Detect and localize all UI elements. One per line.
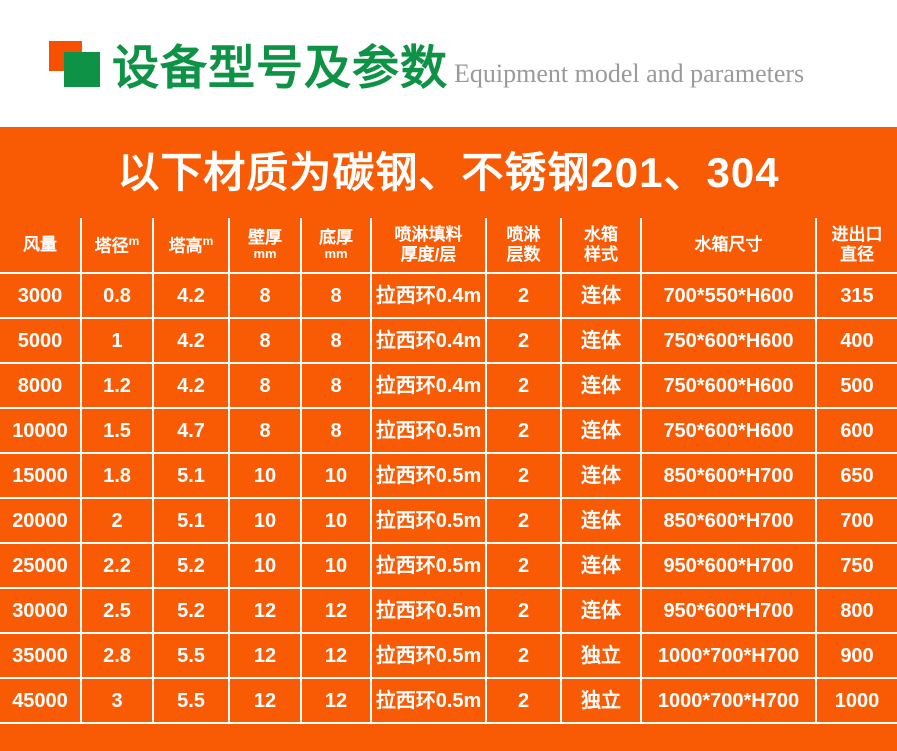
cell-bottom-thickness: 10 xyxy=(301,498,371,543)
cell-tower-diameter: 1.5 xyxy=(81,408,153,453)
cell-bottom-thickness: 8 xyxy=(301,363,371,408)
cell-tower-diameter: 2.8 xyxy=(81,633,153,678)
material-banner-text: 以下材质为碳钢、不锈钢201、304 xyxy=(117,152,779,194)
cell-tower-height: 4.7 xyxy=(153,408,229,453)
cell-spray-packing-thickness: 拉西环0.4m xyxy=(371,318,486,363)
specification-table: 风量 塔径m 塔高m 壁厚 mm 底厚 mm xyxy=(0,218,897,724)
header-line-1: 进出口 xyxy=(817,225,897,245)
cell-water-tank-size: 750*600*H600 xyxy=(641,318,816,363)
column-header-bottom-thickness: 底厚 mm xyxy=(301,218,371,273)
header-line-2: 层数 xyxy=(487,245,560,265)
cell-inlet-outlet-diameter: 800 xyxy=(816,588,897,633)
logo-squares-icon xyxy=(49,41,104,87)
cell-tower-diameter: 0.8 xyxy=(81,273,153,318)
header-unit: m xyxy=(203,234,214,248)
cell-water-tank-style: 连体 xyxy=(561,543,641,588)
cell-water-tank-size: 1000*700*H700 xyxy=(641,678,816,723)
table-header: 风量 塔径m 塔高m 壁厚 mm 底厚 mm xyxy=(0,218,897,273)
table-row: 500014.288拉西环0.4m2连体750*600*H600400 xyxy=(0,318,897,363)
table-row: 350002.85.51212拉西环0.5m2独立1000*700*H70090… xyxy=(0,633,897,678)
cell-water-tank-style: 连体 xyxy=(561,318,641,363)
cell-bottom-thickness: 12 xyxy=(301,678,371,723)
cell-tower-height: 5.1 xyxy=(153,453,229,498)
cell-tower-diameter: 2 xyxy=(81,498,153,543)
cell-spray-packing-thickness: 拉西环0.5m xyxy=(371,543,486,588)
column-header-air-volume: 风量 xyxy=(0,218,81,273)
cell-water-tank-size: 850*600*H700 xyxy=(641,498,816,543)
cell-air-volume: 8000 xyxy=(0,363,81,408)
cell-tower-height: 4.2 xyxy=(153,318,229,363)
orange-content-panel: 以下材质为碳钢、不锈钢201、304 风量 塔径m 塔高m xyxy=(0,127,897,751)
cell-bottom-thickness: 8 xyxy=(301,408,371,453)
cell-wall-thickness: 8 xyxy=(229,363,301,408)
table-row: 4500035.51212拉西环0.5m2独立1000*700*H7001000 xyxy=(0,678,897,723)
cell-inlet-outlet-diameter: 1000 xyxy=(816,678,897,723)
cell-tower-diameter: 2.5 xyxy=(81,588,153,633)
header-line-2: 直径 xyxy=(817,245,897,265)
header-line-1: 风量 xyxy=(0,235,80,255)
cell-bottom-thickness: 10 xyxy=(301,453,371,498)
header-unit: m xyxy=(129,234,140,248)
cell-bottom-thickness: 10 xyxy=(301,543,371,588)
column-header-spray-layers: 喷淋 层数 xyxy=(486,218,561,273)
cell-air-volume: 35000 xyxy=(0,633,81,678)
column-header-inlet-outlet-diameter: 进出口 直径 xyxy=(816,218,897,273)
cell-air-volume: 25000 xyxy=(0,543,81,588)
cell-bottom-thickness: 8 xyxy=(301,273,371,318)
cell-tower-diameter: 1.8 xyxy=(81,453,153,498)
cell-water-tank-size: 750*600*H600 xyxy=(641,408,816,453)
cell-wall-thickness: 8 xyxy=(229,408,301,453)
cell-wall-thickness: 8 xyxy=(229,318,301,363)
header-line-2: 样式 xyxy=(562,245,640,265)
cell-spray-packing-thickness: 拉西环0.5m xyxy=(371,588,486,633)
cell-water-tank-style: 连体 xyxy=(561,453,641,498)
cell-tower-height: 4.2 xyxy=(153,363,229,408)
cell-tower-diameter: 1 xyxy=(81,318,153,363)
cell-tower-height: 5.1 xyxy=(153,498,229,543)
header-unit: mm xyxy=(230,247,300,262)
cell-bottom-thickness: 12 xyxy=(301,588,371,633)
cell-air-volume: 20000 xyxy=(0,498,81,543)
page-header: 设备型号及参数 Equipment model and parameters xyxy=(0,0,897,127)
table-row: 2000025.11010拉西环0.5m2连体850*600*H700700 xyxy=(0,498,897,543)
header-line-1: 水箱尺寸 xyxy=(642,235,815,255)
cell-water-tank-size: 850*600*H700 xyxy=(641,453,816,498)
header-line-1: 水箱 xyxy=(562,225,640,245)
cell-water-tank-size: 1000*700*H700 xyxy=(641,633,816,678)
table-row: 250002.25.21010拉西环0.5m2连体950*600*H700750 xyxy=(0,543,897,588)
cell-water-tank-style: 连体 xyxy=(561,408,641,453)
table-row: 30000.84.288拉西环0.4m2连体700*550*H600315 xyxy=(0,273,897,318)
cell-air-volume: 30000 xyxy=(0,588,81,633)
cell-wall-thickness: 10 xyxy=(229,453,301,498)
logo-green-square-icon xyxy=(64,52,100,87)
cell-spray-packing-thickness: 拉西环0.5m xyxy=(371,633,486,678)
cell-spray-layers: 2 xyxy=(486,588,561,633)
header-line-1: 塔高 xyxy=(169,236,203,255)
cell-spray-layers: 2 xyxy=(486,543,561,588)
table-body: 30000.84.288拉西环0.4m2连体700*550*H600315500… xyxy=(0,273,897,723)
cell-tower-height: 5.5 xyxy=(153,633,229,678)
cell-wall-thickness: 12 xyxy=(229,633,301,678)
column-header-tower-diameter: 塔径m xyxy=(81,218,153,273)
cell-tower-diameter: 2.2 xyxy=(81,543,153,588)
cell-water-tank-style: 连体 xyxy=(561,498,641,543)
cell-spray-layers: 2 xyxy=(486,633,561,678)
header-line-1: 喷淋填料 xyxy=(372,225,485,245)
cell-air-volume: 10000 xyxy=(0,408,81,453)
cell-spray-packing-thickness: 拉西环0.5m xyxy=(371,453,486,498)
table-header-row: 风量 塔径m 塔高m 壁厚 mm 底厚 mm xyxy=(0,218,897,273)
header-inner: 设备型号及参数 Equipment model and parameters xyxy=(49,41,804,93)
table-row: 80001.24.288拉西环0.4m2连体750*600*H600500 xyxy=(0,363,897,408)
cell-air-volume: 45000 xyxy=(0,678,81,723)
cell-bottom-thickness: 8 xyxy=(301,318,371,363)
cell-water-tank-size: 950*600*H700 xyxy=(641,543,816,588)
page-subtitle: Equipment model and parameters xyxy=(454,61,804,87)
cell-air-volume: 3000 xyxy=(0,273,81,318)
table-row: 100001.54.788拉西环0.5m2连体750*600*H600600 xyxy=(0,408,897,453)
column-header-spray-packing-thickness: 喷淋填料 厚度/层 xyxy=(371,218,486,273)
column-header-tower-height: 塔高m xyxy=(153,218,229,273)
cell-water-tank-style: 连体 xyxy=(561,363,641,408)
column-header-water-tank-size: 水箱尺寸 xyxy=(641,218,816,273)
cell-spray-packing-thickness: 拉西环0.5m xyxy=(371,408,486,453)
column-header-wall-thickness: 壁厚 mm xyxy=(229,218,301,273)
cell-inlet-outlet-diameter: 750 xyxy=(816,543,897,588)
cell-inlet-outlet-diameter: 900 xyxy=(816,633,897,678)
header-line-1: 壁厚 xyxy=(230,228,300,248)
header-line-1: 底厚 xyxy=(302,228,370,248)
cell-spray-layers: 2 xyxy=(486,678,561,723)
cell-water-tank-size: 750*600*H600 xyxy=(641,363,816,408)
cell-inlet-outlet-diameter: 600 xyxy=(816,408,897,453)
cell-spray-layers: 2 xyxy=(486,318,561,363)
cell-tower-height: 4.2 xyxy=(153,273,229,318)
cell-spray-layers: 2 xyxy=(486,408,561,453)
cell-inlet-outlet-diameter: 500 xyxy=(816,363,897,408)
cell-spray-packing-thickness: 拉西环0.5m xyxy=(371,498,486,543)
cell-wall-thickness: 12 xyxy=(229,588,301,633)
header-unit: mm xyxy=(302,247,370,262)
cell-spray-layers: 2 xyxy=(486,453,561,498)
cell-water-tank-style: 连体 xyxy=(561,588,641,633)
cell-inlet-outlet-diameter: 650 xyxy=(816,453,897,498)
cell-inlet-outlet-diameter: 315 xyxy=(816,273,897,318)
cell-inlet-outlet-diameter: 700 xyxy=(816,498,897,543)
cell-wall-thickness: 8 xyxy=(229,273,301,318)
cell-tower-height: 5.5 xyxy=(153,678,229,723)
cell-spray-layers: 2 xyxy=(486,363,561,408)
cell-tower-diameter: 3 xyxy=(81,678,153,723)
cell-water-tank-size: 700*550*H600 xyxy=(641,273,816,318)
cell-water-tank-style: 连体 xyxy=(561,273,641,318)
page-title: 设备型号及参数 xyxy=(112,44,448,91)
header-line-1: 喷淋 xyxy=(487,225,560,245)
cell-spray-packing-thickness: 拉西环0.4m xyxy=(371,363,486,408)
material-banner: 以下材质为碳钢、不锈钢201、304 xyxy=(0,127,897,218)
cell-water-tank-style: 独立 xyxy=(561,633,641,678)
cell-air-volume: 5000 xyxy=(0,318,81,363)
table-row: 150001.85.11010拉西环0.5m2连体850*600*H700650 xyxy=(0,453,897,498)
cell-spray-packing-thickness: 拉西环0.4m xyxy=(371,273,486,318)
cell-tower-height: 5.2 xyxy=(153,588,229,633)
cell-spray-packing-thickness: 拉西环0.5m xyxy=(371,678,486,723)
cell-tower-height: 5.2 xyxy=(153,543,229,588)
cell-air-volume: 15000 xyxy=(0,453,81,498)
header-line-2: 厚度/层 xyxy=(372,245,485,265)
cell-wall-thickness: 10 xyxy=(229,498,301,543)
page-root: 设备型号及参数 Equipment model and parameters 以… xyxy=(0,0,897,751)
cell-spray-layers: 2 xyxy=(486,273,561,318)
cell-bottom-thickness: 12 xyxy=(301,633,371,678)
cell-tower-diameter: 1.2 xyxy=(81,363,153,408)
cell-water-tank-size: 950*600*H700 xyxy=(641,588,816,633)
cell-inlet-outlet-diameter: 400 xyxy=(816,318,897,363)
cell-wall-thickness: 10 xyxy=(229,543,301,588)
cell-wall-thickness: 12 xyxy=(229,678,301,723)
cell-spray-layers: 2 xyxy=(486,498,561,543)
table-row: 300002.55.21212拉西环0.5m2连体950*600*H700800 xyxy=(0,588,897,633)
cell-water-tank-style: 独立 xyxy=(561,678,641,723)
header-line-1: 塔径 xyxy=(95,236,129,255)
column-header-water-tank-style: 水箱 样式 xyxy=(561,218,641,273)
